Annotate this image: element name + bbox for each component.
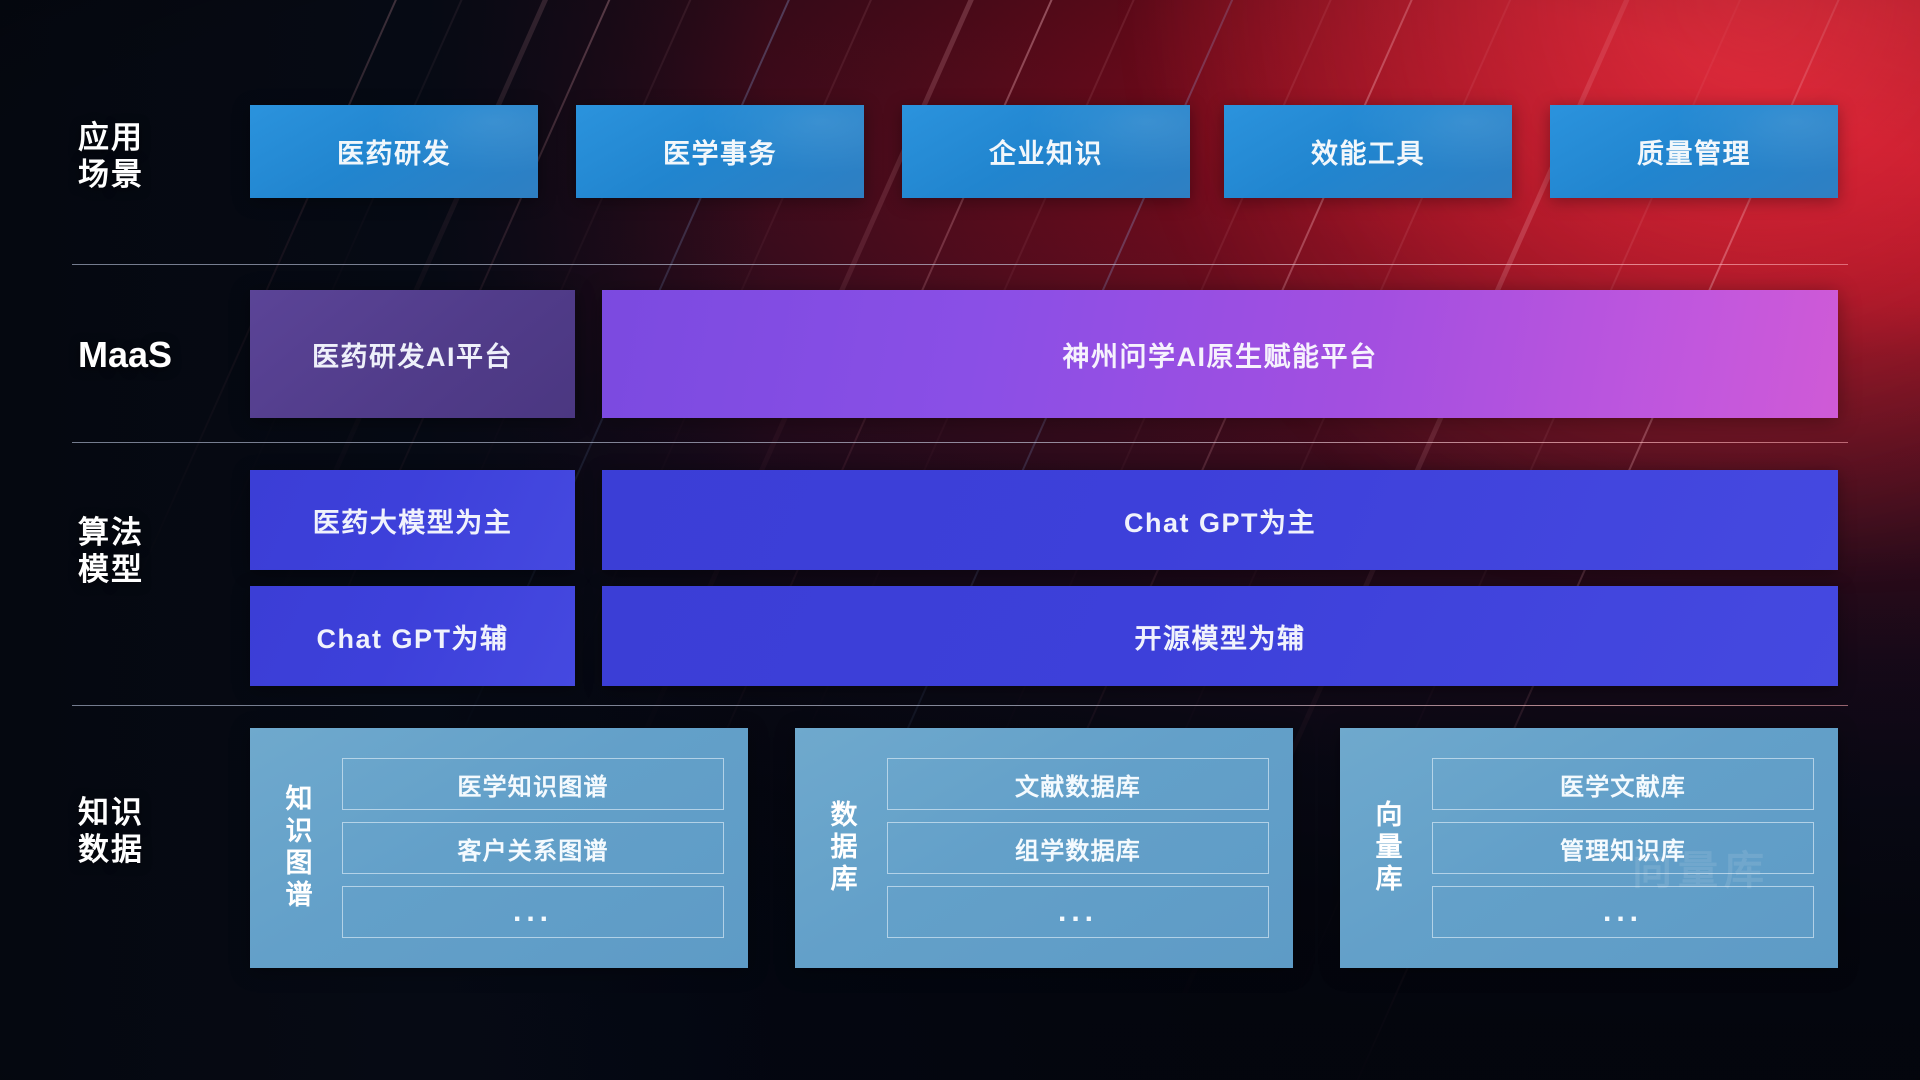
row-label-line: 场景	[78, 157, 208, 194]
row-label-line: 算法	[78, 515, 208, 552]
knowledge-item-more[interactable]: ...	[342, 886, 724, 938]
architecture-diagram: 应用 场景 医药研发 医学事务 企业知识 效能工具 质量管理 MaaS 医药研发…	[0, 0, 1920, 1080]
app-scenario-label: 效能工具	[1311, 132, 1425, 171]
app-scenario-label: 企业知识	[989, 132, 1103, 171]
app-scenario-box-1[interactable]: 医药研发	[250, 105, 538, 198]
knowledge-panel-item-list: 文献数据库 组学数据库 ...	[887, 728, 1293, 968]
divider-3	[72, 705, 1848, 706]
knowledge-panel-graph[interactable]: 知识图谱 医学知识图谱 客户关系图谱 ...	[250, 728, 748, 968]
knowledge-panel-database[interactable]: 数据库 文献数据库 组学数据库 ...	[795, 728, 1293, 968]
app-scenario-box-4[interactable]: 效能工具	[1224, 105, 1512, 198]
row-label-line: 知识	[78, 795, 208, 832]
knowledge-item[interactable]: 文献数据库	[887, 758, 1269, 810]
knowledge-panel-vector[interactable]: 向量库 医学文献库 管理知识库 ...	[1340, 728, 1838, 968]
algorithm-label: Chat GPT为主	[1124, 501, 1316, 540]
divider-2	[72, 442, 1848, 443]
row-label-line: 数据	[78, 832, 208, 869]
row-label-algorithm: 算法 模型	[78, 515, 208, 588]
knowledge-panel-vertical-label: 向量库	[1340, 728, 1432, 968]
knowledge-item-more[interactable]: ...	[887, 886, 1269, 938]
algorithm-box-primary-right[interactable]: Chat GPT为主	[602, 470, 1838, 570]
row-label-application: 应用 场景	[78, 120, 208, 193]
algorithm-box-secondary-right[interactable]: 开源模型为辅	[602, 586, 1838, 686]
knowledge-item[interactable]: 组学数据库	[887, 822, 1269, 874]
row-label-line: 应用	[78, 120, 208, 157]
row-label-maas: MaaS	[78, 334, 208, 376]
algorithm-label: 开源模型为辅	[1135, 617, 1306, 656]
app-scenario-label: 医学事务	[663, 132, 777, 171]
knowledge-item[interactable]: 管理知识库	[1432, 822, 1814, 874]
app-scenario-box-3[interactable]: 企业知识	[902, 105, 1190, 198]
algorithm-box-secondary-left[interactable]: Chat GPT为辅	[250, 586, 575, 686]
maas-platform-box-right[interactable]: 神州问学AI原生赋能平台	[602, 290, 1838, 418]
knowledge-item[interactable]: 医学知识图谱	[342, 758, 724, 810]
knowledge-item[interactable]: 医学文献库	[1432, 758, 1814, 810]
row-label-line: MaaS	[78, 334, 208, 376]
divider-1	[72, 264, 1848, 265]
knowledge-panel-item-list: 医学知识图谱 客户关系图谱 ...	[342, 728, 748, 968]
maas-platform-label: 医药研发AI平台	[312, 335, 513, 374]
app-scenario-box-2[interactable]: 医学事务	[576, 105, 864, 198]
algorithm-label: 医药大模型为主	[313, 501, 513, 540]
app-scenario-box-5[interactable]: 质量管理	[1550, 105, 1838, 198]
knowledge-item[interactable]: 客户关系图谱	[342, 822, 724, 874]
knowledge-item-more[interactable]: ...	[1432, 886, 1814, 938]
knowledge-panel-vertical-label: 知识图谱	[250, 728, 342, 968]
maas-platform-label: 神州问学AI原生赋能平台	[1063, 335, 1378, 374]
algorithm-box-primary-left[interactable]: 医药大模型为主	[250, 470, 575, 570]
row-label-knowledge: 知识 数据	[78, 795, 208, 868]
knowledge-panel-item-list: 医学文献库 管理知识库 ...	[1432, 728, 1838, 968]
row-label-line: 模型	[78, 552, 208, 589]
knowledge-panel-vertical-label: 数据库	[795, 728, 887, 968]
maas-platform-box-left[interactable]: 医药研发AI平台	[250, 290, 575, 418]
app-scenario-label: 质量管理	[1637, 132, 1751, 171]
app-scenario-label: 医药研发	[337, 132, 451, 171]
algorithm-label: Chat GPT为辅	[316, 617, 508, 656]
